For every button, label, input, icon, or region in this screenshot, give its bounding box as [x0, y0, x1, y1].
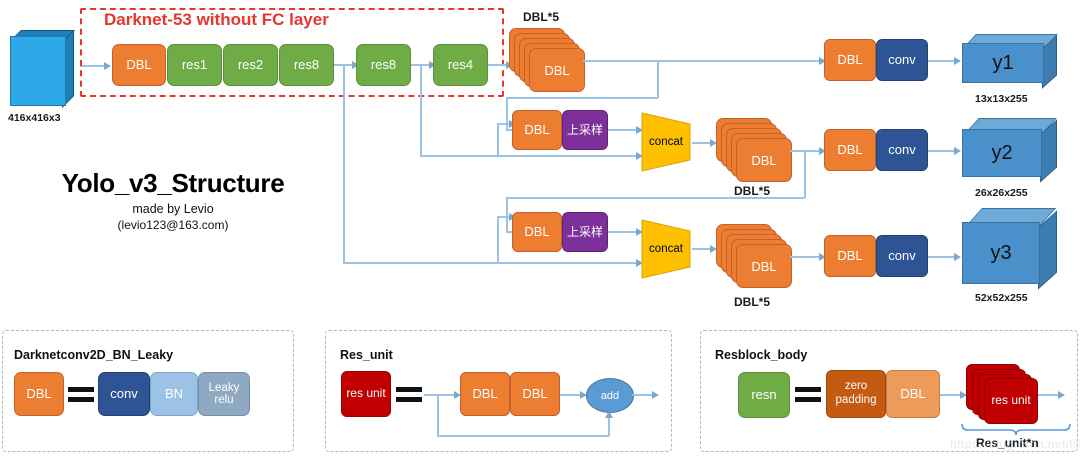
legend1-leaky-relu[interactable]: Leaky relu — [198, 372, 250, 416]
backbone-block-res4[interactable]: res4 — [433, 44, 488, 86]
legend2-wire-in — [424, 394, 456, 396]
branch3-head-dbl[interactable]: DBL — [824, 235, 876, 277]
connector-skip-to-concat2 — [420, 155, 638, 157]
input-cube-front — [10, 36, 66, 106]
stack2-front-card: DBL — [736, 138, 792, 182]
legend3-wire-to-resunit — [940, 394, 962, 396]
legend2-equals-icon — [396, 387, 422, 403]
branch3-head-conv[interactable]: conv — [876, 235, 928, 277]
y1-caption: 13x13x255 — [975, 93, 1028, 105]
y3-caption: 52x52x255 — [975, 292, 1028, 304]
watermark: https://blog.csdn.net/lilit16 — [950, 437, 1080, 451]
branch3-stack-caption: DBL*5 — [734, 295, 770, 309]
legend3-lhs-resn[interactable]: resn — [738, 372, 790, 418]
legend2-wire-out — [632, 394, 654, 396]
connector-head3-to-y3 — [928, 256, 956, 258]
input-cube — [8, 30, 76, 106]
tap1-vertical — [657, 60, 659, 98]
tap2-riser — [506, 197, 508, 232]
legend-title-dbl: Darknetconv2D_BN_Leaky — [14, 348, 173, 362]
legend2-wire-dbl-to-add — [560, 394, 582, 396]
branch3-dbl5-stack[interactable]: DBL — [716, 224, 792, 288]
branch3-concat[interactable]: concat — [640, 218, 692, 280]
legend-title-res-unit: Res_unit — [340, 348, 393, 362]
branch2-upsample-block[interactable]: 上采样 — [562, 110, 608, 150]
connector-head1-to-y1 — [928, 60, 956, 62]
skip-res8b-riser — [497, 123, 499, 156]
legend3-wire-out — [1038, 394, 1060, 396]
branch1-stack-caption: DBL*5 — [523, 10, 559, 24]
legend2-arrowhead-out — [652, 391, 659, 399]
input-caption: 416x416x3 — [8, 112, 61, 124]
branch2-concat-label: concat — [640, 136, 692, 148]
backbone-block-dbl[interactable]: DBL — [112, 44, 166, 86]
stack-front-card: DBL — [529, 48, 585, 92]
tap2-vertical — [804, 150, 806, 198]
y1-cube-front: y1 — [962, 43, 1044, 83]
branch1-dbl5-stack[interactable]: DBL — [509, 28, 585, 92]
branch2-upsample-dbl[interactable]: DBL — [512, 110, 562, 150]
connector-head2-to-y2 — [928, 150, 956, 152]
legend3-stack-front-card: res unit — [984, 378, 1038, 424]
connector-upsample2-to-concat — [608, 129, 638, 131]
legend2-lhs-res-unit[interactable]: res unit — [341, 371, 391, 417]
diagram-canvas: 416x416x3 Darknet-53 without FC layer DB… — [0, 0, 1080, 460]
branch1-head-conv[interactable]: conv — [876, 39, 928, 81]
legend3-dbl[interactable]: DBL — [886, 370, 940, 418]
legend2-dbl-2[interactable]: DBL — [510, 372, 560, 416]
connector-stack3-to-head3 — [790, 256, 822, 258]
legend1-lhs-dbl[interactable]: DBL — [14, 372, 64, 416]
backbone-block-res8-a[interactable]: res8 — [279, 44, 334, 86]
connector-res4-to-stack1 — [488, 64, 508, 66]
branch2-concat[interactable]: concat — [640, 111, 692, 173]
darknet-region-label: Darknet-53 without FC layer — [100, 10, 333, 30]
output-cube-y1: y1 — [960, 34, 1060, 90]
skip-res8a-riser — [497, 216, 499, 263]
output-cube-y3: y3 — [960, 208, 1064, 290]
page-subtitle: made by Levio — [48, 202, 298, 216]
legend2-skip-bottom — [437, 435, 609, 437]
legend-title-resblock: Resblock_body — [715, 348, 807, 362]
legend3-brace — [960, 422, 1072, 436]
legend2-arrowhead-skip-up — [605, 411, 613, 418]
legend3-arrowhead-out — [1058, 391, 1065, 399]
title-block: Yolo_v3_Structure made by Levio (levio12… — [48, 168, 298, 232]
page-title: Yolo_v3_Structure — [48, 168, 298, 199]
legend3-equals-icon — [795, 387, 821, 403]
connector-stack2-to-head2 — [790, 150, 822, 152]
branch2-dbl5-stack[interactable]: DBL — [716, 118, 792, 182]
connector-concat2-to-stack2 — [692, 142, 712, 144]
legend2-skip-down — [437, 394, 439, 436]
legend1-equals-icon — [68, 387, 94, 403]
stack3-front-card: DBL — [736, 244, 792, 288]
backbone-block-res2[interactable]: res2 — [223, 44, 278, 86]
connector-upsample3-to-concat — [608, 231, 638, 233]
y2-cube-front: y2 — [962, 129, 1042, 177]
branch1-head-dbl[interactable]: DBL — [824, 39, 876, 81]
legend3-zero-padding[interactable]: zero padding — [826, 370, 886, 418]
branch2-stack-caption: DBL*5 — [734, 184, 770, 198]
y3-cube-front: y3 — [962, 222, 1040, 284]
connector-skip-to-concat3 — [343, 262, 638, 264]
brace-shape — [960, 422, 1072, 436]
tap1-horizontal — [506, 97, 658, 99]
branch3-upsample-dbl[interactable]: DBL — [512, 212, 562, 252]
legend2-skip-up — [608, 418, 610, 436]
branch3-upsample-block[interactable]: 上采样 — [562, 212, 608, 252]
y2-caption: 26x26x255 — [975, 187, 1028, 199]
legend1-conv[interactable]: conv — [98, 372, 150, 416]
output-cube-y2: y2 — [960, 118, 1062, 184]
skip-res8a-vertical — [343, 64, 345, 263]
connector-stack1-to-head1 — [583, 60, 821, 62]
branch3-concat-label: concat — [640, 243, 692, 255]
legend1-bn[interactable]: BN — [150, 372, 198, 416]
tap1-riser — [506, 97, 508, 130]
tap2-horizontal — [506, 197, 805, 199]
legend2-dbl-1[interactable]: DBL — [460, 372, 510, 416]
legend2-add-node[interactable]: add — [586, 378, 634, 413]
backbone-block-res1[interactable]: res1 — [167, 44, 222, 86]
skip-res8b-vertical — [420, 64, 422, 156]
legend3-res-unit-stack[interactable]: res unit — [966, 364, 1038, 422]
branch2-head-dbl[interactable]: DBL — [824, 129, 876, 171]
connector-concat3-to-stack3 — [692, 248, 712, 250]
author-email: (levio123@163.com) — [48, 218, 298, 232]
branch2-head-conv[interactable]: conv — [876, 129, 928, 171]
backbone-block-res8-b[interactable]: res8 — [356, 44, 411, 86]
